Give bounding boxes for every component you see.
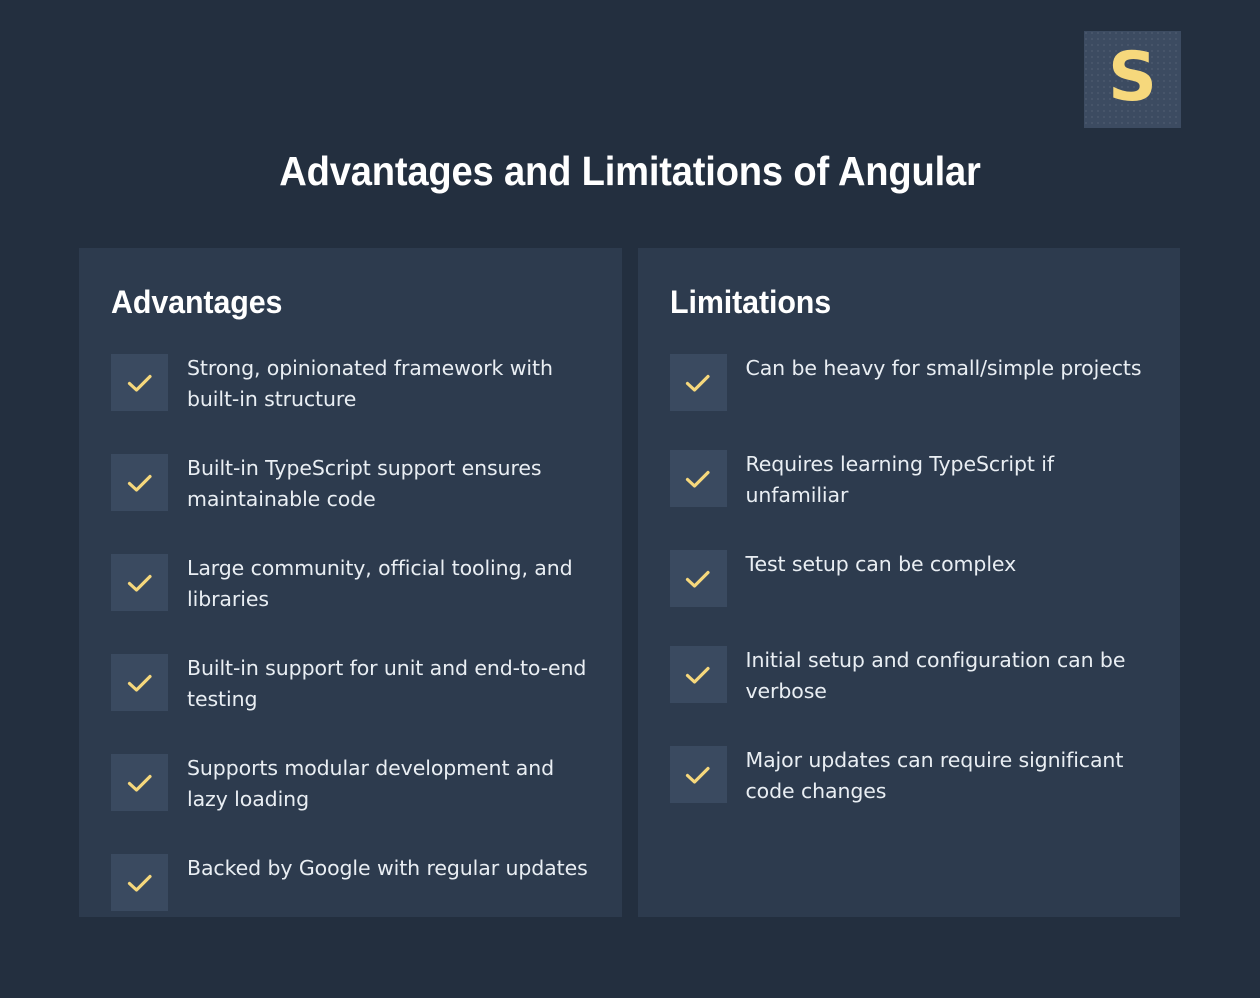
check-icon bbox=[111, 854, 168, 911]
list-item-label: Requires learning TypeScript if unfamili… bbox=[746, 447, 1151, 511]
list-item-label: Test setup can be complex bbox=[746, 547, 1017, 580]
limitations-card-title: Limitations bbox=[670, 284, 1126, 321]
check-icon bbox=[670, 354, 727, 411]
list-item-label: Backed by Google with regular updates bbox=[187, 851, 588, 884]
limitations-list: Can be heavy for small/simple projects R… bbox=[670, 351, 1151, 807]
brand-logo-letter: S bbox=[1108, 44, 1157, 112]
list-item: Test setup can be complex bbox=[670, 547, 1151, 607]
list-item-label: Strong, opinionated framework with built… bbox=[187, 351, 592, 415]
list-item: Major updates can require significant co… bbox=[670, 743, 1151, 807]
list-item: Supports modular development and lazy lo… bbox=[111, 751, 592, 815]
check-icon bbox=[111, 754, 168, 811]
advantages-card: Advantages Strong, opinionated framework… bbox=[79, 248, 622, 917]
list-item-label: Large community, official tooling, and l… bbox=[187, 551, 592, 615]
list-item-label: Built-in support for unit and end-to-end… bbox=[187, 651, 592, 715]
list-item: Built-in support for unit and end-to-end… bbox=[111, 651, 592, 715]
list-item-label: Initial setup and configuration can be v… bbox=[746, 643, 1151, 707]
list-item-label: Built-in TypeScript support ensures main… bbox=[187, 451, 592, 515]
list-item: Backed by Google with regular updates bbox=[111, 851, 592, 911]
limitations-card: Limitations Can be heavy for small/simpl… bbox=[638, 248, 1181, 917]
check-icon bbox=[670, 550, 727, 607]
comparison-columns: Advantages Strong, opinionated framework… bbox=[79, 248, 1180, 917]
list-item: Built-in TypeScript support ensures main… bbox=[111, 451, 592, 515]
check-icon bbox=[670, 746, 727, 803]
check-icon bbox=[670, 646, 727, 703]
advantages-list: Strong, opinionated framework with built… bbox=[111, 351, 592, 911]
check-icon bbox=[111, 454, 168, 511]
list-item-label: Major updates can require significant co… bbox=[746, 743, 1151, 807]
list-item: Can be heavy for small/simple projects bbox=[670, 351, 1151, 411]
check-icon bbox=[111, 354, 168, 411]
list-item: Strong, opinionated framework with built… bbox=[111, 351, 592, 415]
list-item: Requires learning TypeScript if unfamili… bbox=[670, 447, 1151, 511]
list-item-label: Can be heavy for small/simple projects bbox=[746, 351, 1142, 384]
list-item: Initial setup and configuration can be v… bbox=[670, 643, 1151, 707]
check-icon bbox=[111, 654, 168, 711]
brand-logo-badge: S bbox=[1084, 31, 1181, 128]
page-title: Advantages and Limitations of Angular bbox=[44, 148, 1216, 195]
advantages-card-title: Advantages bbox=[111, 284, 567, 321]
check-icon bbox=[111, 554, 168, 611]
check-icon bbox=[670, 450, 727, 507]
list-item: Large community, official tooling, and l… bbox=[111, 551, 592, 615]
list-item-label: Supports modular development and lazy lo… bbox=[187, 751, 592, 815]
